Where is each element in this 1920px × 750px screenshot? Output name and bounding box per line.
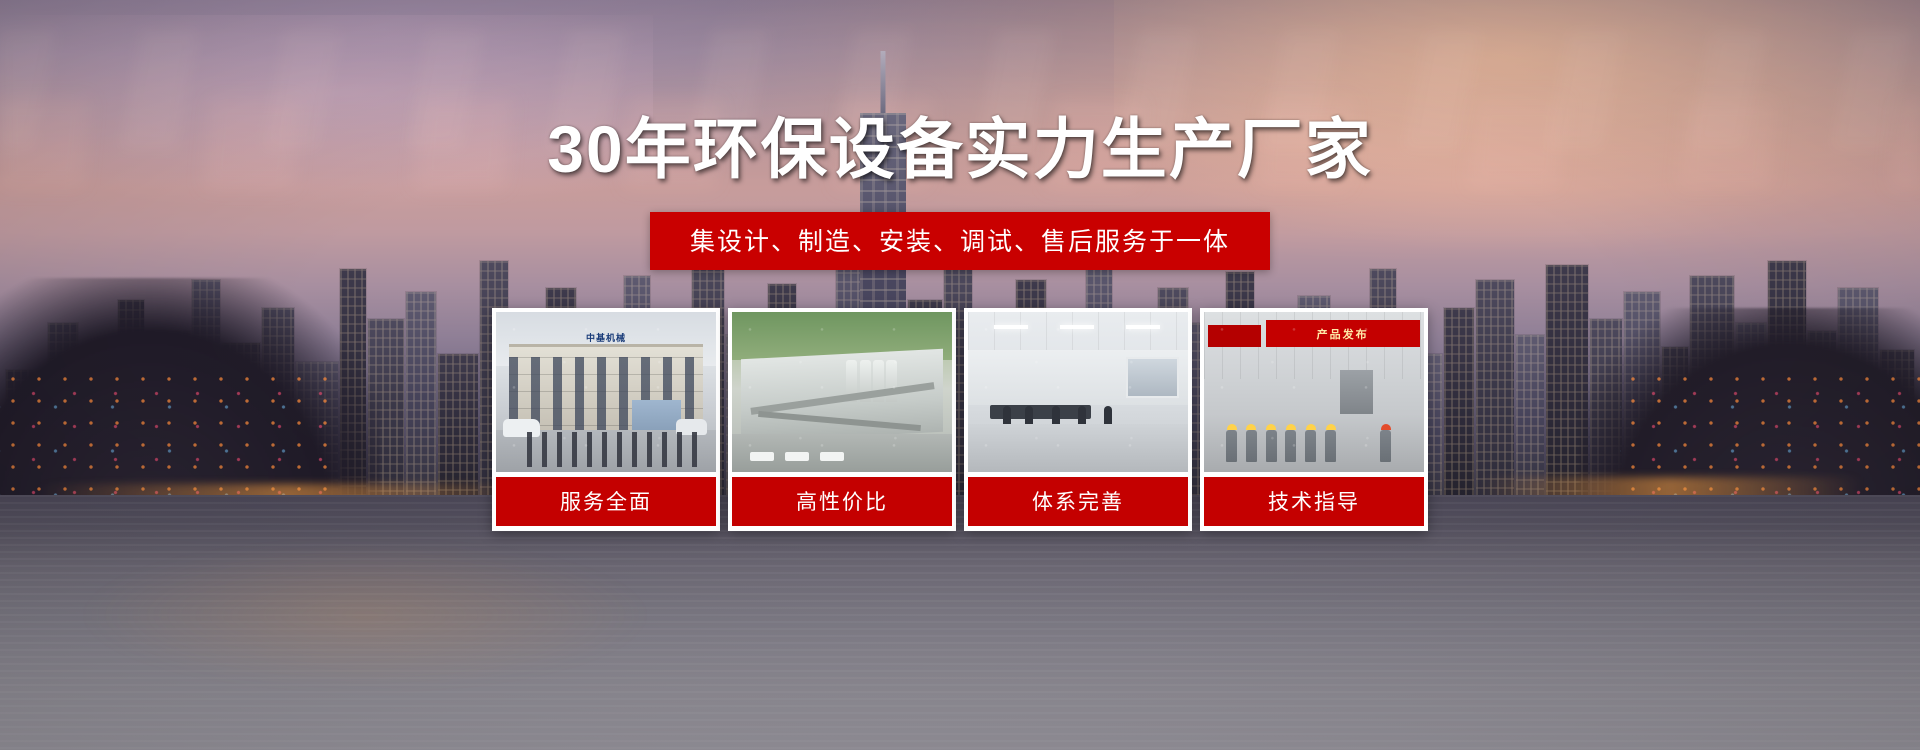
hero-subtitle-bar: 集设计、制造、安装、调试、售后服务于一体 — [650, 212, 1270, 270]
card-caption: 服务全面 — [496, 477, 716, 526]
card-photo-office-interior — [968, 312, 1188, 472]
banner-content: 30年环保设备实力生产厂家 集设计、制造、安装、调试、售后服务于一体 中基机械 — [0, 0, 1920, 750]
workshop-banner-text: 产品发布 — [1266, 320, 1420, 347]
building-sign-text: 中基机械 — [586, 331, 626, 344]
card-caption: 技术指导 — [1204, 477, 1424, 526]
card-photo-workshop-workers: 产品发布 — [1204, 312, 1424, 472]
hero-headline: 30年环保设备实力生产厂家 — [547, 96, 1372, 192]
card-caption: 体系完善 — [968, 477, 1188, 526]
feature-card-list: 中基机械 服务全面 — [492, 308, 1428, 531]
hero-banner: 30年环保设备实力生产厂家 集设计、制造、安装、调试、售后服务于一体 中基机械 — [0, 0, 1920, 750]
card-photo-office-building: 中基机械 — [496, 312, 716, 472]
card-caption: 高性价比 — [732, 477, 952, 526]
feature-card[interactable]: 中基机械 服务全面 — [492, 308, 720, 531]
feature-card[interactable]: 体系完善 — [964, 308, 1192, 531]
feature-card[interactable]: 高性价比 — [728, 308, 956, 531]
card-photo-plant-aerial — [732, 312, 952, 472]
feature-card[interactable]: 产品发布 技术指导 — [1200, 308, 1428, 531]
